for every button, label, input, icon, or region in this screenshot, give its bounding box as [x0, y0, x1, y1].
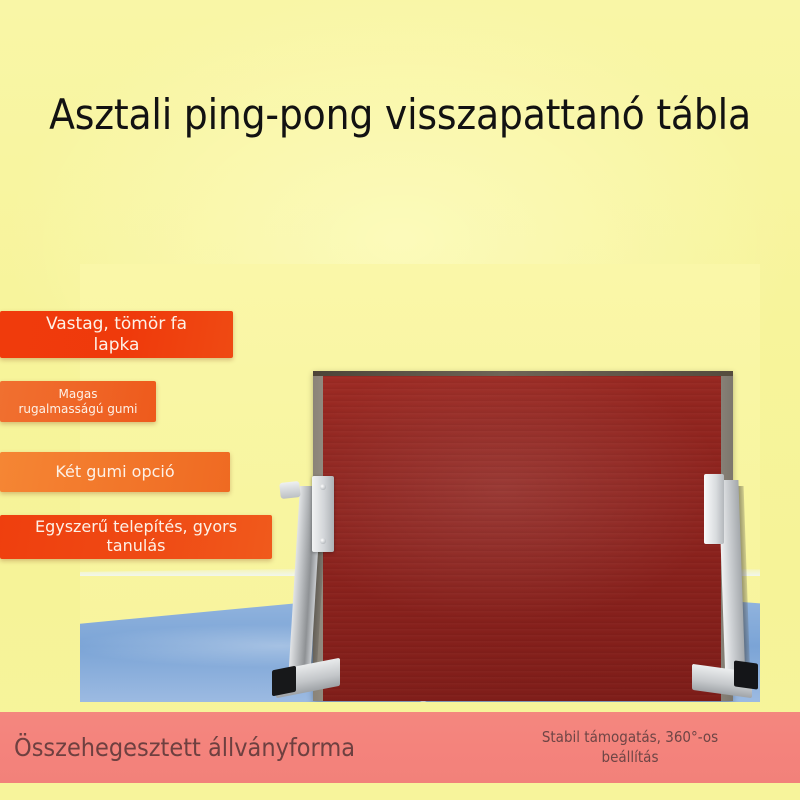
rebound-board: [313, 371, 733, 701]
right-stand-foot-cap: [734, 660, 758, 689]
right-mounting-bracket: [704, 474, 724, 544]
feature-label-two-rubber-options: Két gumi opció: [0, 452, 230, 492]
rebound-board-face: [323, 376, 721, 701]
feature-label-line-1: Vastag, tömör fa: [46, 314, 187, 334]
left-adjust-knob: [279, 481, 301, 499]
feature-label-thick-solid-wood-panel: Vastag, tömör fa lapka: [0, 311, 233, 358]
bottom-banner: Összehegesztett állványforma Stabil támo…: [0, 712, 800, 783]
feature-label-line-2: rugalmasságú gumi: [18, 402, 137, 416]
feature-label-line-1: Egyszerű telepítés, gyors: [35, 518, 237, 537]
bottom-banner-note: Stabil támogatás, 360°-os beállítás: [500, 728, 760, 768]
product-poster: Asztali ping-pong visszapattanó tábla Va…: [0, 0, 800, 800]
feature-label-line-1: Magas: [18, 387, 137, 401]
left-stand-foot-cap: [272, 666, 296, 697]
feature-label-line-1: Két gumi opció: [55, 463, 174, 482]
feature-label-easy-install-fast-learning: Egyszerű telepítés, gyors tanulás: [0, 515, 272, 559]
feature-label-line-2: lapka: [46, 335, 187, 355]
bracket-bolt-upper-icon: [320, 484, 326, 490]
feature-label-line-2: tanulás: [35, 537, 237, 556]
bottom-banner-note-line-1: Stabil támogatás, 360°-os: [542, 728, 718, 746]
bracket-bolt-lower-icon: [320, 538, 326, 544]
feature-label-high-elasticity-rubber: Magas rugalmasságú gumi: [0, 381, 156, 422]
page-title: Asztali ping-pong visszapattanó tábla: [0, 92, 800, 138]
bottom-banner-note-line-2: beállítás: [602, 748, 659, 766]
bottom-banner-headline: Összehegesztett állványforma: [14, 733, 355, 762]
